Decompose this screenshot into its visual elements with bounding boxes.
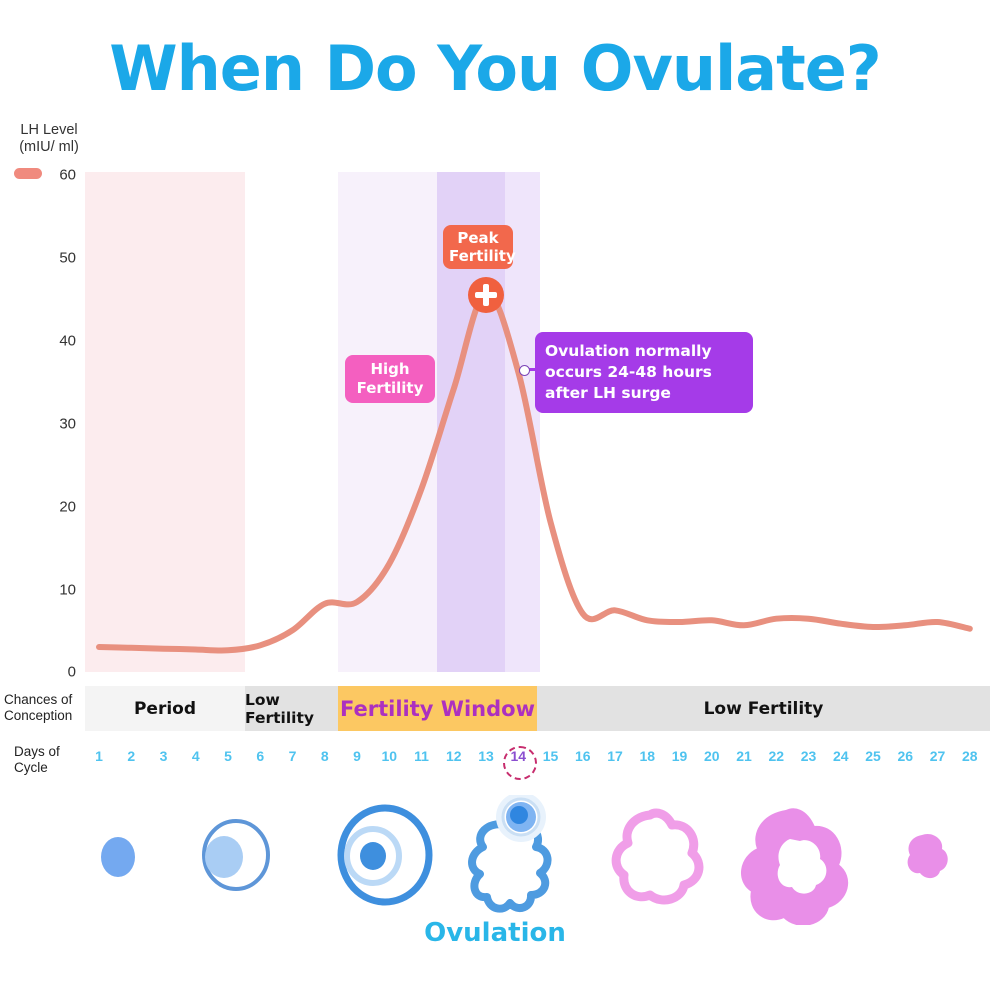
day-of-cycle-3: 3 bbox=[149, 748, 179, 764]
day-of-cycle-4: 4 bbox=[181, 748, 211, 764]
day-of-cycle-10: 10 bbox=[374, 748, 404, 764]
y-tick-40: 40 bbox=[59, 333, 76, 350]
y-axis-title-line1: LH Level bbox=[6, 122, 92, 139]
ovulation-caption: Ovulation bbox=[0, 918, 990, 948]
conception-track: Period Low Fertility Fertility Window Lo… bbox=[85, 686, 990, 731]
day-of-cycle-12: 12 bbox=[439, 748, 469, 764]
day-of-cycle-25: 25 bbox=[858, 748, 888, 764]
follicle-primary-follicle bbox=[204, 821, 268, 889]
conception-segment-low-fertility-late: Low Fertility bbox=[537, 686, 990, 731]
y-axis-title-line2: (mIU/ ml) bbox=[6, 139, 92, 156]
lh-level-curve bbox=[85, 172, 990, 672]
days-row-label-line2: Cycle bbox=[14, 760, 84, 776]
day-of-cycle-20: 20 bbox=[697, 748, 727, 764]
high-fertility-callout: High Fertility bbox=[345, 355, 435, 403]
day-of-cycle-13: 13 bbox=[471, 748, 501, 764]
chances-of-conception-row: Chances of Conception Period Low Fertili… bbox=[0, 686, 990, 731]
day-of-cycle-17: 17 bbox=[600, 748, 630, 764]
y-tick-60: 60 bbox=[59, 167, 76, 184]
day-of-cycle-1: 1 bbox=[84, 748, 114, 764]
follicle-corpus-albicans bbox=[908, 834, 948, 878]
follicle-primordial-follicle bbox=[101, 837, 135, 877]
day-of-cycle-2: 2 bbox=[116, 748, 146, 764]
conception-segment-low-fertility-early: Low Fertility bbox=[245, 686, 338, 731]
y-tick-50: 50 bbox=[59, 250, 76, 267]
day-of-cycle-21: 21 bbox=[729, 748, 759, 764]
day-of-cycle-22: 22 bbox=[761, 748, 791, 764]
day-of-cycle-11: 11 bbox=[407, 748, 437, 764]
follicle-early-corpus-luteum bbox=[616, 813, 699, 900]
page-title: When Do You Ovulate? bbox=[0, 38, 990, 100]
follicle-mature-corpus-luteum bbox=[742, 809, 847, 924]
day-of-cycle-27: 27 bbox=[923, 748, 953, 764]
lh-chart-plot-area: 60 50 40 30 20 10 0 bbox=[85, 172, 990, 672]
y-tick-30: 30 bbox=[59, 416, 76, 433]
conception-segment-fertility-window: Fertility Window bbox=[338, 686, 537, 731]
ovulation-callout-anchor-dot bbox=[519, 365, 530, 376]
follicle-development-illustrations bbox=[0, 795, 990, 925]
day-of-cycle-28: 28 bbox=[955, 748, 985, 764]
y-tick-0: 0 bbox=[68, 664, 76, 681]
day-of-cycle-6: 6 bbox=[245, 748, 275, 764]
y-tick-10: 10 bbox=[59, 582, 76, 599]
days-of-cycle-row: Days of Cycle 12345678910111213141516171… bbox=[0, 740, 990, 788]
day-of-cycle-7: 7 bbox=[278, 748, 308, 764]
conception-row-label-line1: Chances of bbox=[4, 692, 82, 708]
day-of-cycle-8: 8 bbox=[310, 748, 340, 764]
days-row-label: Days of Cycle bbox=[14, 744, 84, 776]
conception-segment-period: Period bbox=[85, 686, 245, 731]
day-of-cycle-23: 23 bbox=[794, 748, 824, 764]
day-of-cycle-9: 9 bbox=[342, 748, 372, 764]
conception-row-label-line2: Conception bbox=[4, 708, 82, 724]
day-of-cycle-5: 5 bbox=[213, 748, 243, 764]
day-of-cycle-19: 19 bbox=[665, 748, 695, 764]
peak-fertility-plus-icon bbox=[468, 277, 504, 313]
day-of-cycle-16: 16 bbox=[568, 748, 598, 764]
chart-legend bbox=[14, 168, 42, 179]
lh-level-pill-icon bbox=[14, 168, 42, 179]
peak-fertility-callout: Peak Fertility bbox=[443, 225, 513, 269]
y-tick-20: 20 bbox=[59, 499, 76, 516]
ovulation-timing-callout: Ovulation normally occurs 24-48 hours af… bbox=[535, 332, 753, 413]
days-row-label-line1: Days of bbox=[14, 744, 84, 760]
conception-row-label: Chances of Conception bbox=[4, 692, 82, 724]
y-axis-title: LH Level (mIU/ ml) bbox=[6, 122, 92, 156]
day-of-cycle-26: 26 bbox=[890, 748, 920, 764]
follicle-mature-graafian-follicle bbox=[341, 808, 429, 902]
plus-horizontal-bar bbox=[475, 292, 497, 298]
day-of-cycle-14: 14 bbox=[503, 748, 533, 764]
day-of-cycle-24: 24 bbox=[826, 748, 856, 764]
day-of-cycle-18: 18 bbox=[632, 748, 662, 764]
follicle-ruptured-follicle-ovulation bbox=[472, 795, 548, 909]
day-of-cycle-15: 15 bbox=[536, 748, 566, 764]
